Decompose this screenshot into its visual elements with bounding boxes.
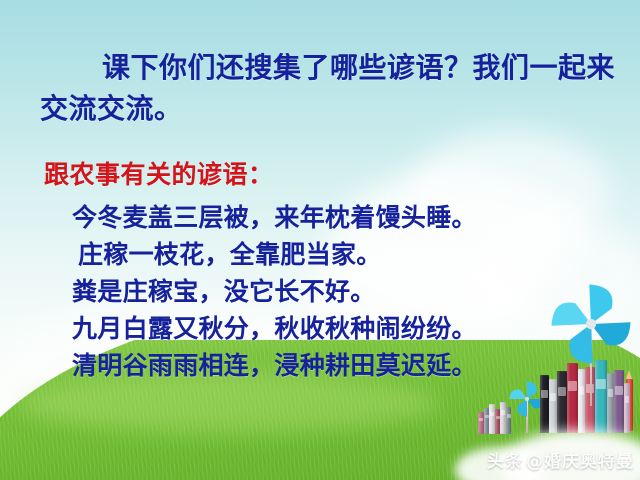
proverb-item: 九月白露又秋分，秋收秋种闹纷纷。 — [72, 310, 592, 347]
intro-paragraph: 课下你们还搜集了哪些谚语？我们一起来交流交流。 — [40, 47, 625, 129]
slide-canvas: 课下你们还搜集了哪些谚语？我们一起来交流交流。 跟农事有关的谚语： 今冬麦盖三层… — [0, 0, 640, 480]
watermark: 头条 @婚庆奥特曼 — [487, 447, 634, 472]
watermark-handle: @婚庆奥特曼 — [526, 447, 634, 472]
section-title: 跟农事有关的谚语： — [44, 155, 274, 191]
proverb-item: 庄稼一枝花，全靠肥当家。 — [72, 236, 592, 273]
proverb-item: 清明谷雨雨相连，浸种耕田莫迟延。 — [72, 347, 592, 384]
proverb-item: 今冬麦盖三层被，来年枕着馒头睡。 — [72, 199, 592, 236]
text-content: 课下你们还搜集了哪些谚语？我们一起来交流交流。 跟农事有关的谚语： 今冬麦盖三层… — [0, 0, 640, 480]
watermark-brand: 头条 — [487, 447, 523, 472]
proverb-list: 今冬麦盖三层被，来年枕着馒头睡。庄稼一枝花，全靠肥当家。粪是庄稼宝，没它长不好。… — [72, 199, 592, 384]
proverb-item: 粪是庄稼宝，没它长不好。 — [72, 273, 592, 310]
